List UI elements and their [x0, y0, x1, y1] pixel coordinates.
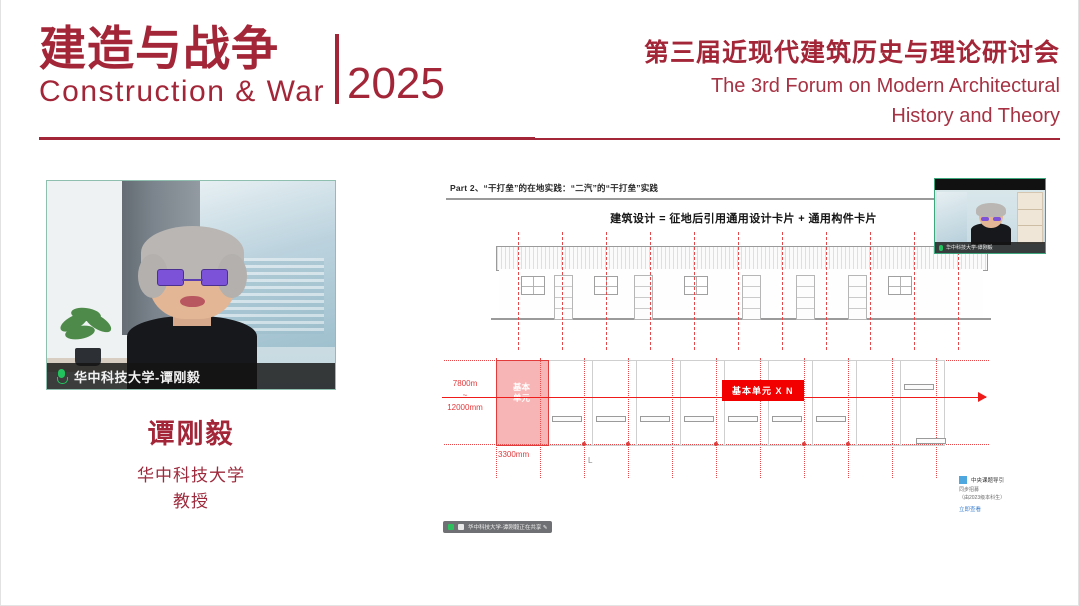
brand-year: 2025 [347, 62, 445, 106]
building-plan-drawing: 基本 单元 7800m ~ 12000mm 3300mm 基本单元 X N L [496, 358, 986, 478]
header-rule-thin [535, 138, 1060, 140]
speaker-glasses-right [201, 269, 227, 286]
repeat-arrow-head [978, 392, 987, 402]
picture-in-picture-video[interactable]: 华中科技大学-谭刚毅 [934, 178, 1046, 254]
building-elevation-drawing [496, 242, 986, 337]
microphone-icon [56, 369, 67, 384]
pip-participant-name: 华中科技大学-谭刚毅 [946, 244, 993, 251]
share-status-label: 华中科技大学-谭刚毅正在共享 ✎ [468, 523, 547, 531]
video-participant-name: 华中科技大学-谭刚毅 [74, 367, 200, 386]
horizontal-dimension-label: 3300mm [498, 450, 529, 459]
share-status-icon [448, 524, 454, 530]
legend-link[interactable]: 立即查看 [959, 505, 1045, 513]
speaker-glasses-left [157, 269, 183, 286]
slide-title-rule [446, 198, 986, 200]
legend-subtitle: 同步招募 [959, 487, 1045, 495]
repeat-arrow-line [442, 397, 986, 398]
event-header: 建造与战争 Construction & War 2025 第三届近现代建筑历史… [23, 0, 1060, 142]
video-background-plant [59, 308, 119, 366]
speaker-video-feed[interactable]: 华中科技大学-谭刚毅 [46, 180, 336, 390]
brand-divider [335, 34, 339, 104]
legend-note: （由2023级本科生） [959, 495, 1045, 503]
repeat-unit-badge: 基本单元 X N [722, 380, 804, 401]
legend-item: 中央课题导引 [959, 476, 1045, 484]
basic-unit-label: 基本 单元 [496, 382, 547, 403]
speaker-panel: 华中科技大学-谭刚毅 谭刚毅 华中科技大学 教授 [46, 180, 336, 516]
speaker-affiliation: 华中科技大学 [46, 463, 336, 489]
share-screen-icon [458, 524, 464, 530]
pip-background-window [937, 192, 967, 242]
event-brand: 建造与战争 Construction & War 2025 [39, 24, 445, 108]
presentation-page: 建造与战争 Construction & War 2025 第三届近现代建筑历史… [0, 0, 1079, 606]
speaker-title: 教授 [46, 489, 336, 515]
legend-item-label: 中央课题导引 [971, 476, 1004, 484]
forum-title-cn: 第三届近现代建筑历史与理论研讨会 [644, 38, 1060, 69]
plan-axis-note: L [588, 456, 592, 465]
forum-title-en-line1: The 3rd Forum on Modern Architectural [644, 73, 1060, 99]
screen-share-toolbar[interactable]: 华中科技大学-谭刚毅正在共享 ✎ [443, 521, 552, 533]
pip-top-bar [935, 179, 1045, 190]
video-name-bar: 华中科技大学-谭刚毅 [47, 363, 335, 389]
pip-name-bar: 华中科技大学-谭刚毅 [935, 242, 1045, 253]
forum-titles: 第三届近现代建筑历史与理论研讨会 The 3rd Forum on Modern… [644, 38, 1060, 129]
brand-title-cn: 建造与战争 [39, 24, 325, 73]
speaker-name: 谭刚毅 [46, 412, 336, 451]
forum-title-en-line2: History and Theory [644, 103, 1060, 129]
header-rule-thick [39, 137, 535, 140]
legend-swatch-icon [959, 476, 967, 484]
pip-speaker-figure [969, 195, 1013, 245]
brand-title-en: Construction & War [39, 75, 325, 108]
slide-legend: 中央课题导引 同步招募 （由2023级本科生） 立即查看 [959, 476, 1045, 513]
pip-background-shelf [1017, 192, 1043, 244]
brand-titles: 建造与战争 Construction & War [39, 24, 325, 108]
pip-microphone-icon [939, 245, 943, 251]
slide-section-title: Part 2、“干打垒”的在地实践：“二汽”的“干打垒”实践 [450, 182, 658, 194]
vertical-dimension-label: 7800m ~ 12000mm [436, 378, 494, 414]
